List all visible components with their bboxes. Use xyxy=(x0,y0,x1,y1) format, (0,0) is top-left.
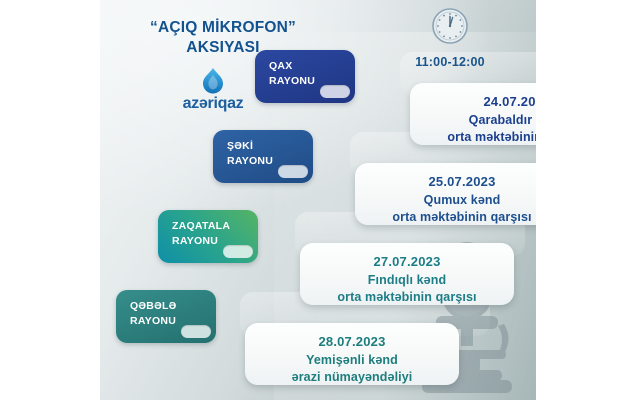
schedule-time: 11:00-12:00 xyxy=(390,6,510,69)
card-place-line: Yemişənli kənd xyxy=(245,352,459,370)
district-tag-line: QƏBƏLƏ xyxy=(130,299,216,314)
tag-connector xyxy=(278,165,308,178)
card-date: 24.07.2023 xyxy=(410,92,536,112)
flame-icon xyxy=(202,68,224,94)
tag-connector xyxy=(320,85,350,98)
district-tag-line: QAX xyxy=(269,59,355,74)
card-place-line: orta məktəbinin qarşısı xyxy=(410,129,536,147)
card-place-line: Qarabaldır kənd xyxy=(410,112,536,130)
card-place-line: orta məktəbinin qarşısı xyxy=(355,209,536,227)
card-date: 25.07.2023 xyxy=(355,172,536,192)
title-line-1: “AÇIQ MİKROFON” xyxy=(108,18,338,38)
tag-connector xyxy=(223,245,253,258)
schedule-card: 28.07.2023 Yemişənli kənd ərazi nümayənd… xyxy=(245,323,459,385)
poster-canvas: “AÇIQ MİKROFON” AKSIYASI azəriqaz xyxy=(100,0,536,400)
card-place-line: Fındıqlı kənd xyxy=(300,272,514,290)
district-tag: QƏBƏLƏ RAYONU xyxy=(116,290,216,343)
card-date: 27.07.2023 xyxy=(300,252,514,272)
card-date: 28.07.2023 xyxy=(245,332,459,352)
card-place-line: ərazi nümayəndəliyi xyxy=(245,369,459,387)
schedule-card: 25.07.2023 Qumux kənd orta məktəbinin qa… xyxy=(355,163,536,225)
card-place-line: orta məktəbinin qarşısı xyxy=(300,289,514,307)
schedule-card: 24.07.2023 Qarabaldır kənd orta məktəbin… xyxy=(410,83,536,145)
district-tag-line: ZAQATALA xyxy=(172,219,258,234)
district-tag: ZAQATALA RAYONU xyxy=(158,210,258,263)
schedule-card: 27.07.2023 Fındıqlı kənd orta məktəbinin… xyxy=(300,243,514,305)
district-tag: ŞƏKİ RAYONU xyxy=(213,130,313,183)
card-place-line: Qumux kənd xyxy=(355,192,536,210)
district-tag-line: ŞƏKİ xyxy=(227,139,313,154)
clock-icon xyxy=(430,6,470,46)
district-tag: QAX RAYONU xyxy=(255,50,355,103)
tag-connector xyxy=(181,325,211,338)
schedule-time-label: 11:00-12:00 xyxy=(390,55,510,69)
